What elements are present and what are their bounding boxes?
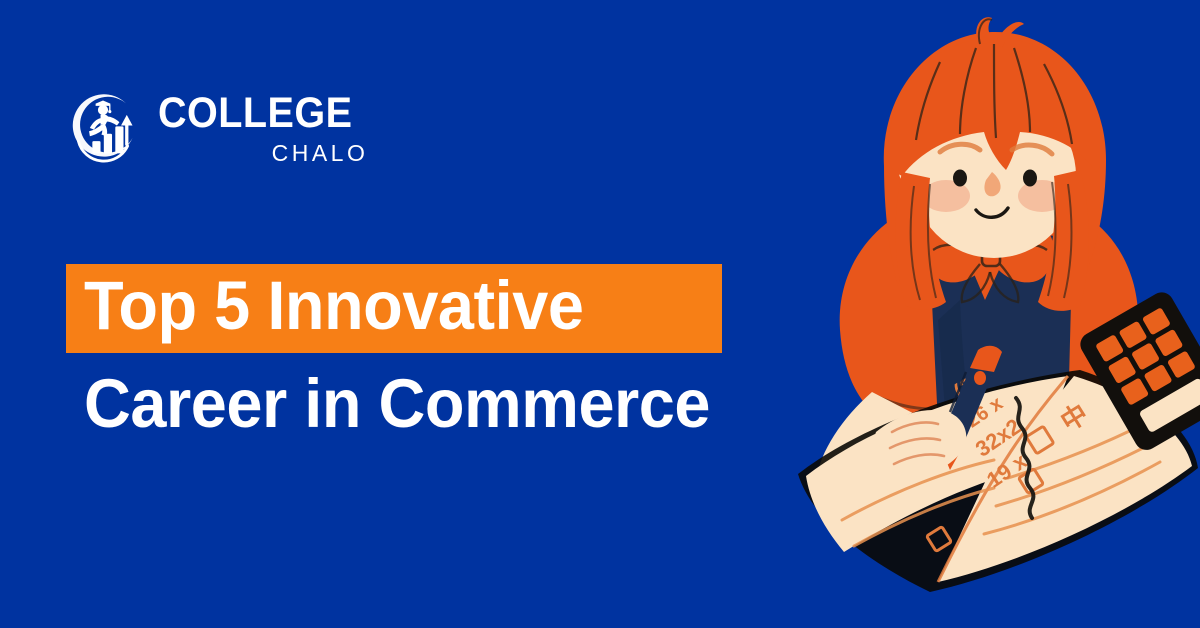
headline-line-2-wrap: Career in Commerce [84, 366, 750, 442]
headline-line-2: Career in Commerce [84, 366, 710, 442]
logo-wordmark: COLLEGE CHALO [158, 92, 369, 165]
banner-canvas: COLLEGE CHALO Top 5 Innovative Career in… [0, 0, 1200, 628]
eye-right [1023, 170, 1037, 187]
student-illustration: (20+ 26 x 32x2 19 x 中 [780, 0, 1200, 628]
logo-lockup[interactable]: COLLEGE CHALO [62, 86, 369, 170]
college-chalo-logo-icon [62, 86, 144, 170]
logo-word-college: COLLEGE [158, 92, 352, 135]
headline-line-1: Top 5 Innovative [84, 270, 667, 341]
eye-left [953, 170, 967, 187]
logo-word-chalo: CHALO [272, 142, 369, 165]
girl-student-writing-illustration: (20+ 26 x 32x2 19 x 中 [780, 0, 1200, 628]
headline-highlight-band: Top 5 Innovative [66, 264, 722, 353]
